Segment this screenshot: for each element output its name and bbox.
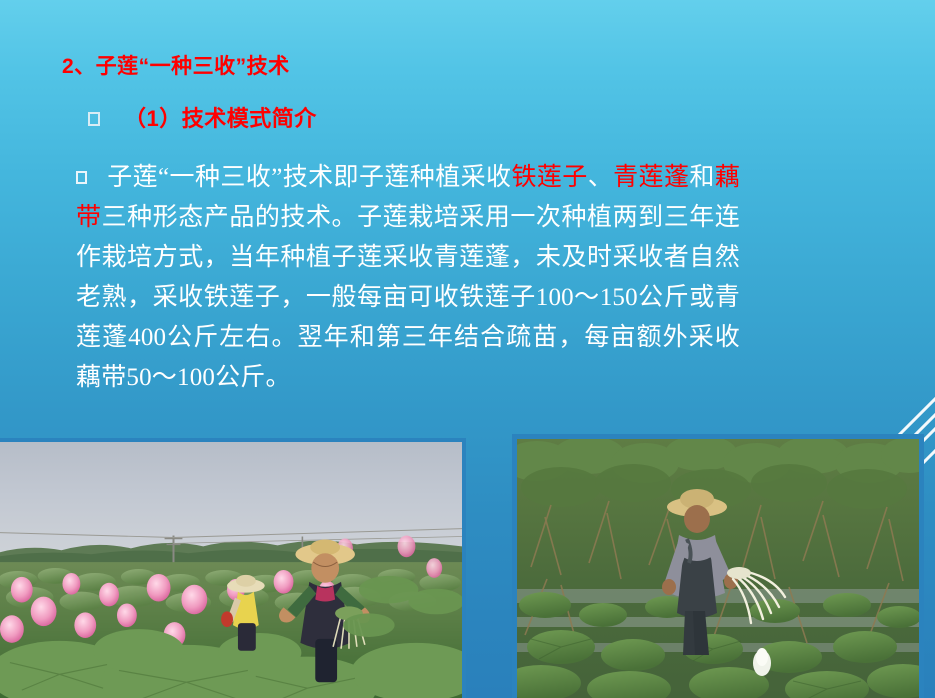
- body-segment-0: 子莲“一种三收”技术即子莲种植采收: [107, 164, 511, 191]
- lotus-stem-harvest-photo: [512, 434, 924, 698]
- body-segment-4: 和: [689, 164, 714, 191]
- body-segment-6: 三种形态产品的技术。子莲栽培采用一次种植两到三年连作栽培方式，当年种植子莲采收青…: [76, 204, 740, 391]
- highlight-term-iron-lotus-seed: 铁莲子: [511, 164, 587, 191]
- empty-box-bullet-icon: [76, 171, 87, 184]
- section-heading: 2、子莲“一种三收”技术: [62, 53, 290, 81]
- empty-box-bullet-icon: [88, 112, 100, 126]
- body-segment-2: 、: [588, 164, 613, 191]
- body-paragraph: 子莲“一种三收”技术即子莲种植采收铁莲子、青莲蓬和藕带三种形态产品的技术。子莲栽…: [76, 158, 740, 398]
- slide-canvas: 2、子莲“一种三收”技术 （1）技术模式简介 子莲“一种三收”技术即子莲种植采收…: [0, 0, 935, 698]
- body-paragraph-block: 子莲“一种三收”技术即子莲种植采收铁莲子、青莲蓬和藕带三种形态产品的技术。子莲栽…: [76, 158, 740, 398]
- subsection-heading: （1）技术模式简介: [124, 104, 317, 134]
- lotus-field-harvest-photo: [0, 438, 466, 698]
- highlight-term-green-lotus-pod: 青莲蓬: [613, 164, 689, 191]
- subsection-heading-row: （1）技术模式简介: [88, 104, 317, 134]
